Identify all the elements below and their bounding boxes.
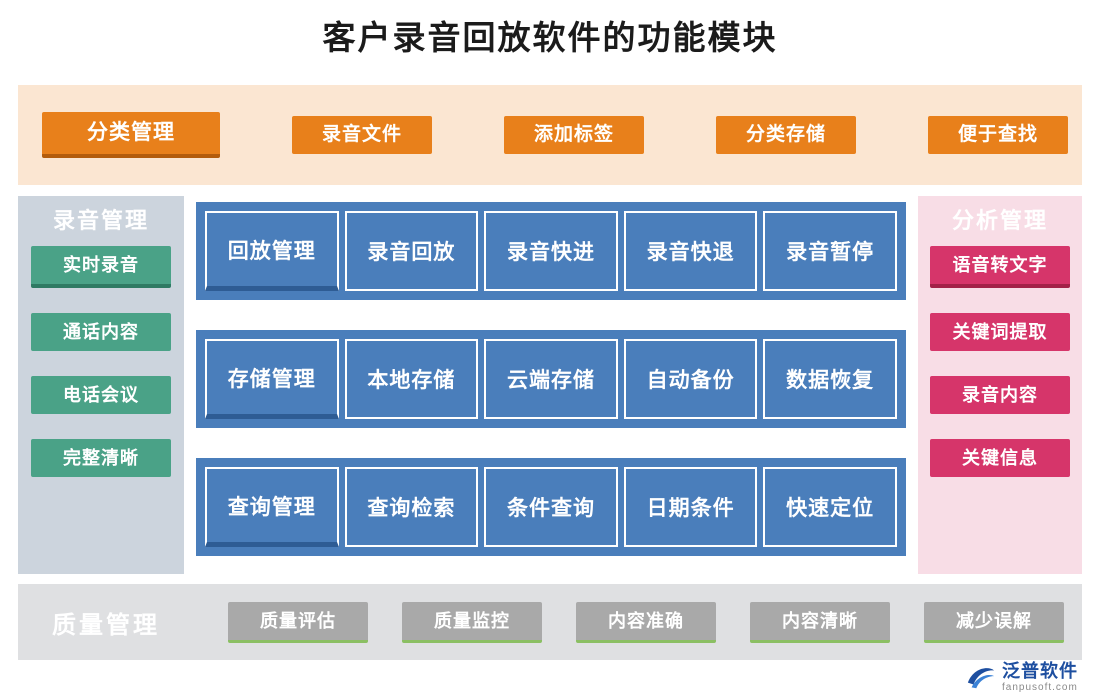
chip-call-content[interactable]: 通话内容 (31, 313, 171, 351)
cell-quick-locate[interactable]: 快速定位 (763, 467, 897, 547)
chip-easy-search[interactable]: 便于查找 (928, 116, 1068, 154)
chip-quality-monitoring[interactable]: 质量监控 (402, 602, 542, 643)
chip-add-tag[interactable]: 添加标签 (504, 116, 644, 154)
column-head-analysis: 分析管理 (918, 196, 1082, 246)
row-head-query[interactable]: 查询管理 (205, 467, 339, 547)
chip-classified-storage[interactable]: 分类存储 (716, 116, 856, 154)
chip-reduce-misunderstanding[interactable]: 减少误解 (924, 602, 1064, 643)
storage-management-row: 存储管理 本地存储 云端存储 自动备份 数据恢复 (196, 330, 906, 428)
cell-condition-query[interactable]: 条件查询 (484, 467, 618, 547)
cell-playback-forward[interactable]: 录音快进 (484, 211, 618, 291)
cell-cloud-storage[interactable]: 云端存储 (484, 339, 618, 419)
middle-region: 录音管理 实时录音 通话内容 电话会议 完整清晰 回放管理 录音回放 录音快进 … (18, 196, 1082, 574)
cell-playback-pause[interactable]: 录音暂停 (763, 211, 897, 291)
playback-management-row: 回放管理 录音回放 录音快进 录音快退 录音暂停 (196, 202, 906, 300)
cell-local-storage[interactable]: 本地存储 (345, 339, 479, 419)
chip-realtime-recording[interactable]: 实时录音 (31, 246, 171, 288)
quality-management-band: 质量管理 质量评估 质量监控 内容准确 内容清晰 减少误解 (18, 584, 1082, 660)
cell-playback-rewind[interactable]: 录音快退 (624, 211, 758, 291)
chip-phone-conference[interactable]: 电话会议 (31, 376, 171, 414)
swoosh-logo-icon (966, 662, 996, 692)
cell-data-recovery[interactable]: 数据恢复 (763, 339, 897, 419)
cell-auto-backup[interactable]: 自动备份 (624, 339, 758, 419)
chip-quality-assessment[interactable]: 质量评估 (228, 602, 368, 643)
cell-playback-play[interactable]: 录音回放 (345, 211, 479, 291)
logo-name-en: fanpusoft.com (1002, 683, 1078, 693)
column-head-recording: 录音管理 (18, 196, 184, 246)
chip-complete-clear[interactable]: 完整清晰 (31, 439, 171, 477)
logo-name-cn: 泛普软件 (1002, 662, 1078, 680)
chip-keyword-extraction[interactable]: 关键词提取 (930, 313, 1070, 351)
analysis-management-column: 分析管理 语音转文字 关键词提取 录音内容 关键信息 (918, 196, 1082, 574)
row-head-playback[interactable]: 回放管理 (205, 211, 339, 291)
chip-content-clear[interactable]: 内容清晰 (750, 602, 890, 643)
band-head-quality: 质量管理 (18, 605, 194, 640)
cell-query-search[interactable]: 查询检索 (345, 467, 479, 547)
center-columns: 回放管理 录音回放 录音快进 录音快退 录音暂停 存储管理 本地存储 云端存储 … (196, 196, 906, 574)
page-title: 客户录音回放软件的功能模块 (0, 0, 1100, 62)
query-management-row: 查询管理 查询检索 条件查询 日期条件 快速定位 (196, 458, 906, 556)
brand-logo: 泛普软件 fanpusoft.com (966, 660, 1078, 694)
chip-recording-content[interactable]: 录音内容 (930, 376, 1070, 414)
chip-content-accurate[interactable]: 内容准确 (576, 602, 716, 643)
row-head-storage[interactable]: 存储管理 (205, 339, 339, 419)
band-head-classification[interactable]: 分类管理 (42, 112, 220, 158)
classification-management-band: 分类管理 录音文件 添加标签 分类存储 便于查找 (18, 85, 1082, 185)
recording-management-column: 录音管理 实时录音 通话内容 电话会议 完整清晰 (18, 196, 184, 574)
chip-speech-to-text[interactable]: 语音转文字 (930, 246, 1070, 288)
cell-date-condition[interactable]: 日期条件 (624, 467, 758, 547)
chip-key-information[interactable]: 关键信息 (930, 439, 1070, 477)
chip-recording-file[interactable]: 录音文件 (292, 116, 432, 154)
